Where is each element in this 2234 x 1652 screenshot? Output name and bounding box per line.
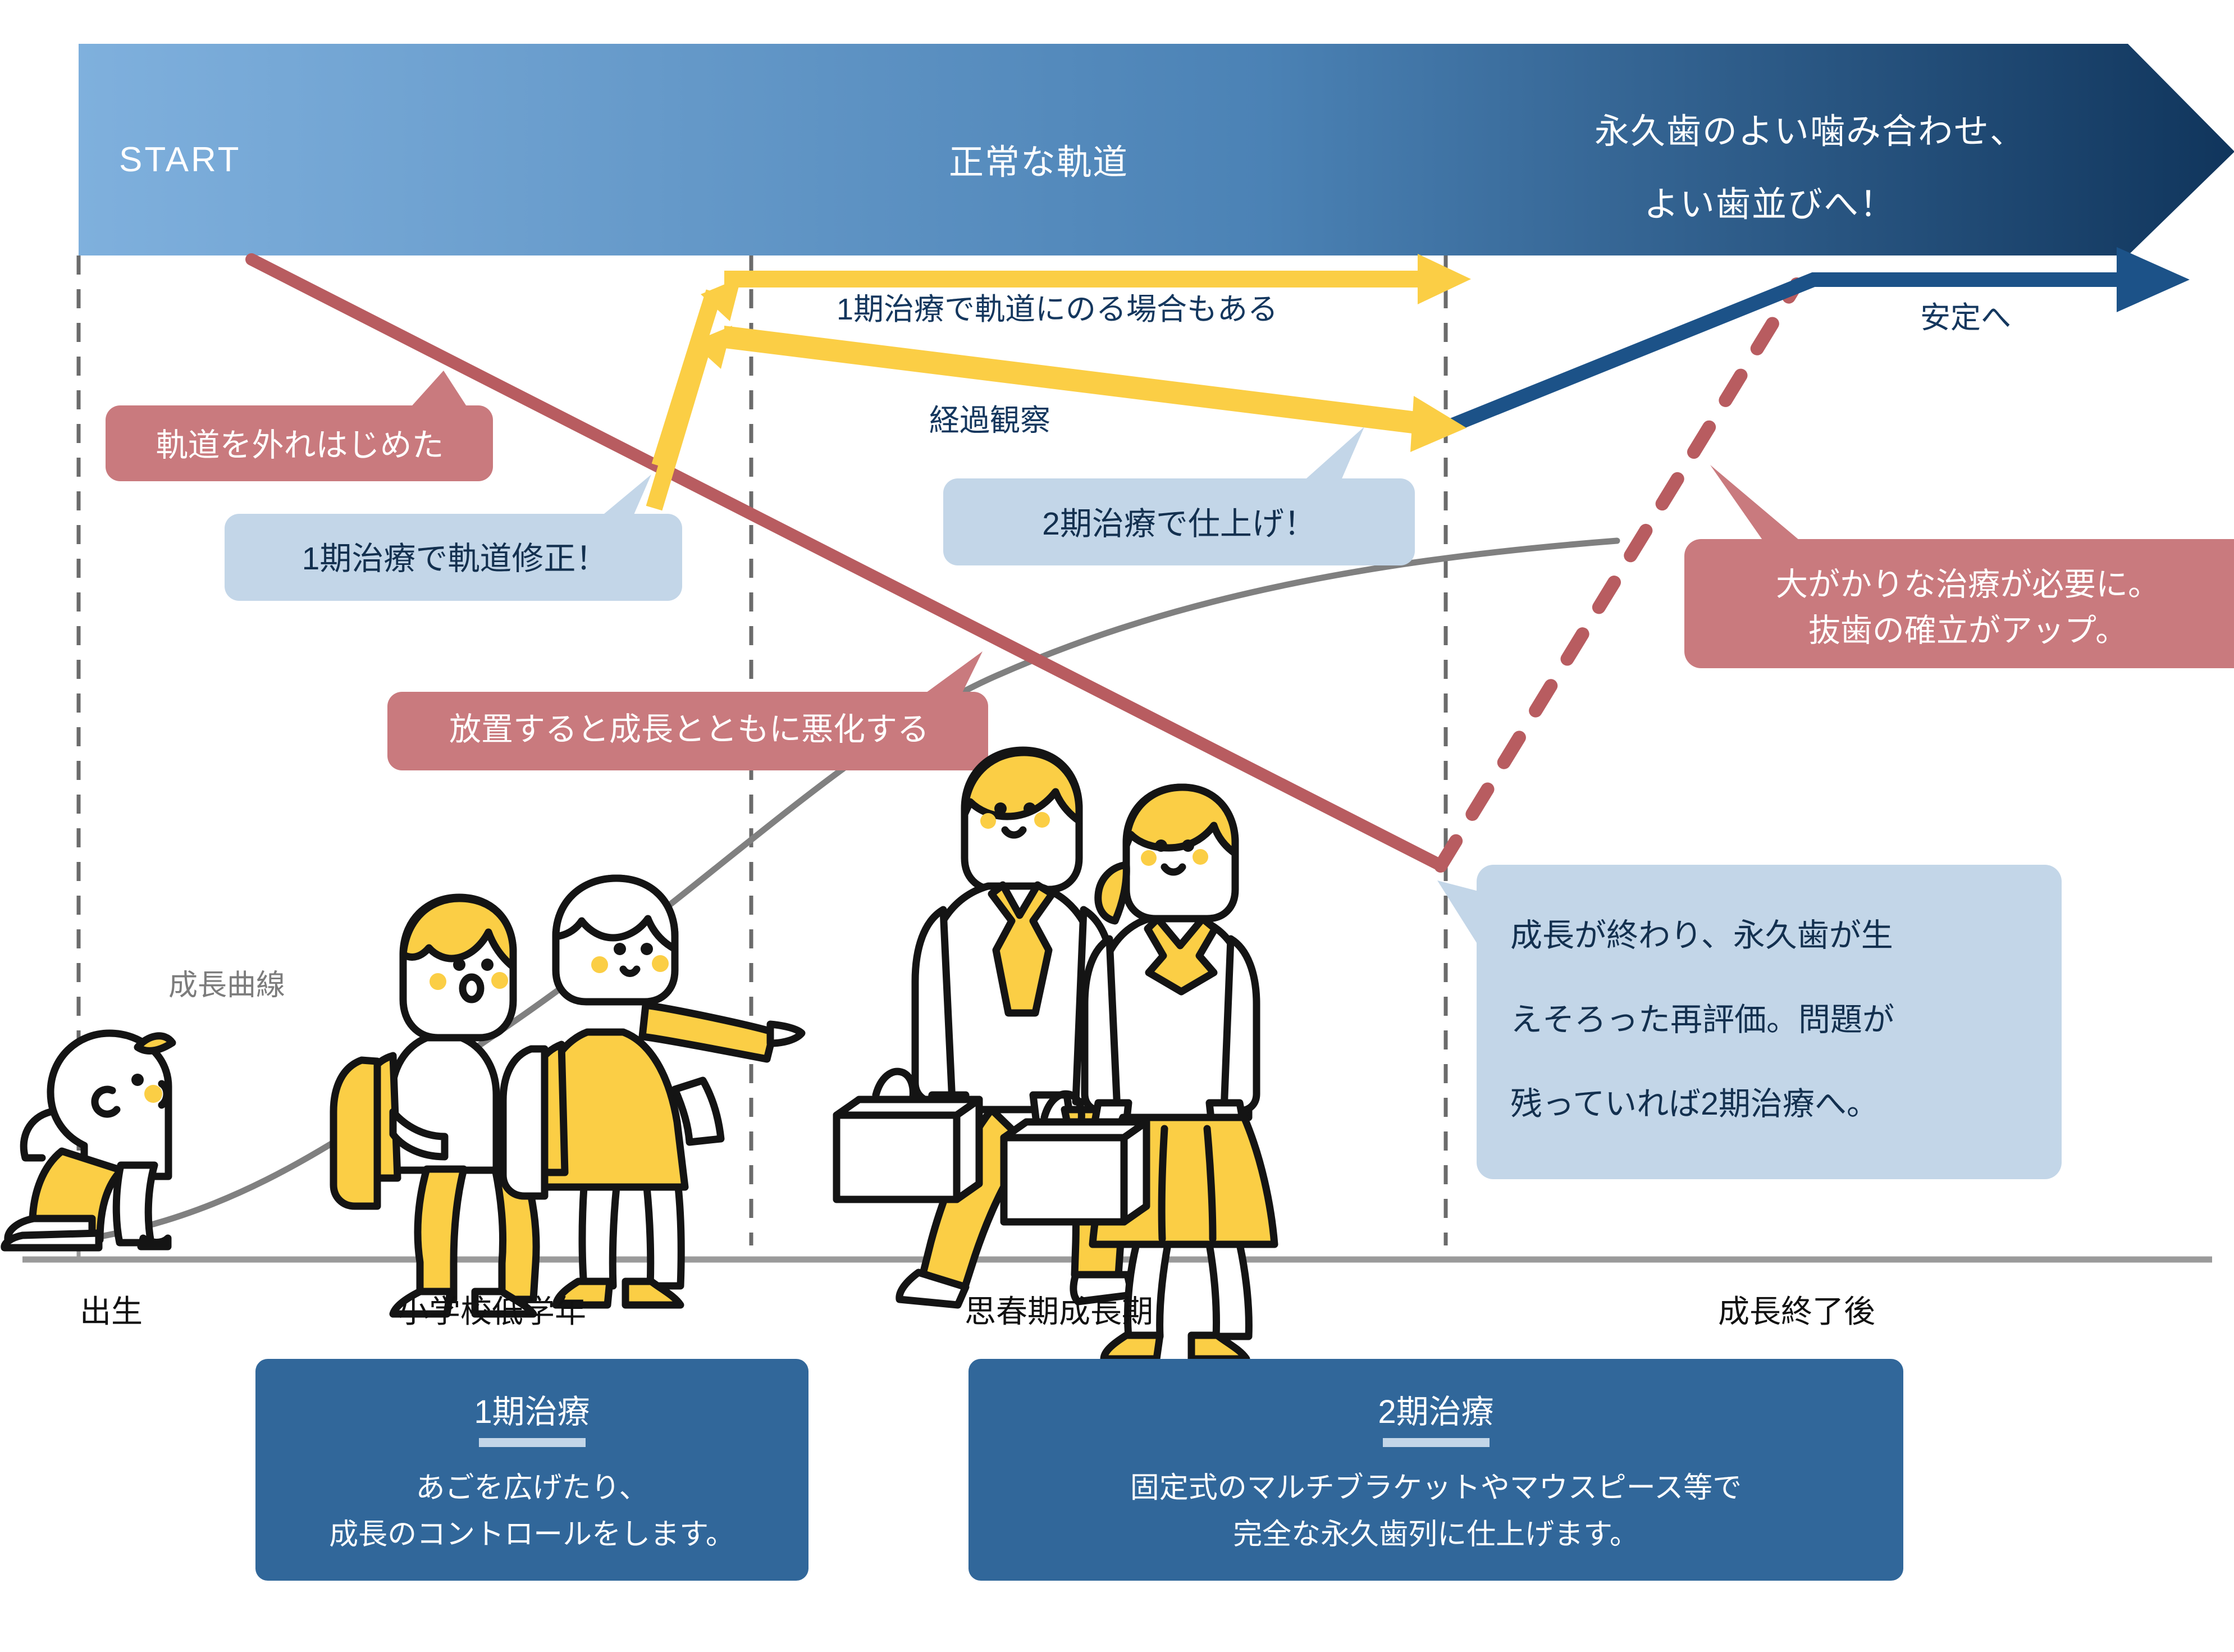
arrow-label-stabilize: 安定へ [1920, 296, 2011, 340]
illustration-primary-girl [503, 878, 802, 1305]
callout-reassess-line3: 残っていれば2期治療へ。 [1510, 1078, 1879, 1124]
phase-box-2-line-1: 固定式のマルチブラケットやマウスピース等で [1130, 1464, 1742, 1506]
phase-box-1-title: 1期治療 [474, 1385, 590, 1432]
axis-tick-0: 出生 [80, 1289, 143, 1334]
callout-off-track-label: 軌道を外れはじめた [131, 422, 468, 469]
axis-tick-1: 小学校低学年 [398, 1289, 586, 1334]
axis-tick-3: 成長終了後 [1718, 1289, 1875, 1334]
arrow-label-observation: 経過観察 [929, 399, 1050, 442]
stabilization-arrowhead [2117, 247, 2190, 312]
growth-curve-label: 成長曲線 [168, 965, 285, 1007]
illustration-baby [4, 1033, 172, 1248]
phase-box-1-line-2: 成長のコントロールをします。 [329, 1510, 735, 1553]
callout-reassess-line1: 成長が終わり、永久歯が生 [1510, 910, 1893, 956]
callout-worsen-label: 放置すると成長とともに悪化する [410, 706, 968, 753]
phase-box-1: 1期治療 あごを広げたり、 成長のコントロールをします。 [255, 1359, 808, 1581]
phase-box-1-underline [479, 1438, 586, 1447]
callout-major-treatment-line1: 大がかりな治療が必要に。 [1701, 562, 2234, 608]
phase-box-2-underline [1383, 1438, 1490, 1447]
banner-goal-line2: よい歯並びへ！ [1644, 180, 1895, 230]
axis-tick-2: 思春期成長期 [965, 1289, 1153, 1334]
phase-box-1-line-1: あごを広げたり、 [416, 1464, 648, 1506]
phase-box-2: 2期治療 固定式のマルチブラケットやマウスピース等で 完全な永久歯列に仕上げます… [968, 1359, 1903, 1581]
infographic-root: START 正常な軌道 永久歯のよい噛み合わせ、 よい歯並びへ！ 軌道を外れはじ… [0, 0, 2234, 1652]
callout-reassess-line2: えそろった再評価。問題が [1510, 994, 1894, 1040]
banner-start-label: START [119, 135, 241, 185]
banner-goal-line1: 永久歯のよい噛み合わせ、 [1595, 107, 2026, 157]
callout-phase1-fix-label: 1期治療で軌道修正！ [247, 536, 663, 582]
banner-middle-label: 正常な軌道 [949, 138, 1129, 188]
callout-reassess-text-group: 成長が終わり、永久歯が生 えそろった再評価。問題が 残っていれば2期治療へ。 [1477, 865, 2062, 1179]
callout-phase2-finish-label: 2期治療で仕上げ！ [966, 501, 1392, 547]
arrow-label-phase1-ontrack: 1期治療で軌道にのる場合もある [837, 287, 1278, 331]
phase-box-2-title: 2期治療 [1378, 1385, 1493, 1432]
callout-major-treatment-line2: 抜歯の確立がアップ。 [1701, 608, 2234, 654]
yellow-arrow-ontrack [660, 254, 1471, 466]
phase-box-2-line-2: 完全な永久歯列に仕上げます。 [1233, 1510, 1639, 1553]
